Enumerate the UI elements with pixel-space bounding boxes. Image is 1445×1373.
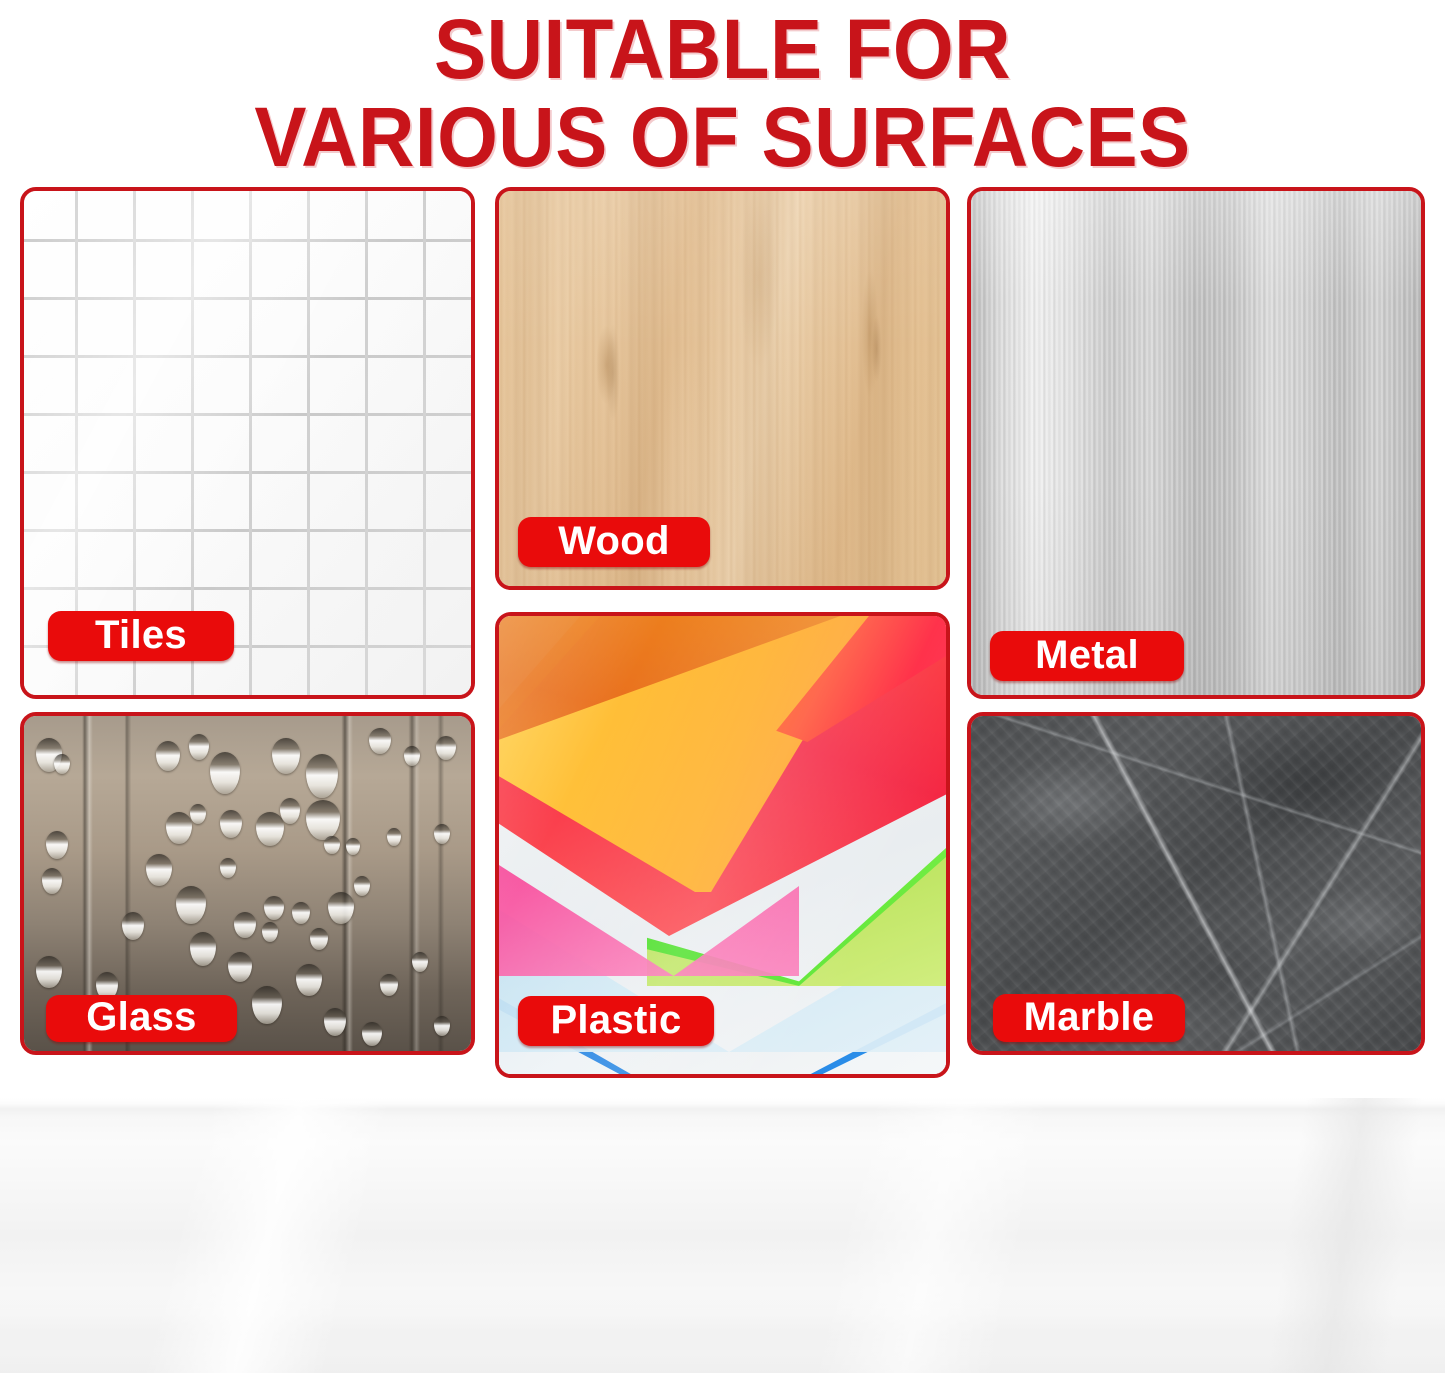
surface-card-tiles: Tiles bbox=[20, 187, 475, 699]
surface-label-metal: Metal bbox=[990, 631, 1184, 681]
surface-label-glass: Glass bbox=[46, 995, 237, 1042]
headline-line-2: VARIOUS OF SURFACES bbox=[51, 94, 1395, 180]
metal-texture bbox=[971, 191, 1421, 695]
surface-card-glass: Glass bbox=[20, 712, 475, 1055]
surface-label-wood: Wood bbox=[518, 517, 710, 567]
product-strip-highlight bbox=[0, 1098, 1445, 1373]
metal-sheen bbox=[971, 191, 1421, 695]
surface-card-marble: Marble bbox=[967, 712, 1425, 1055]
surface-card-plastic: Plastic bbox=[495, 612, 950, 1078]
surface-card-wood: Wood bbox=[495, 187, 950, 590]
surface-label-marble: Marble bbox=[993, 994, 1185, 1042]
surface-card-metal: Metal bbox=[967, 187, 1425, 699]
product-photo-strip bbox=[0, 1098, 1445, 1373]
page-title: SUITABLE FOR VARIOUS OF SURFACES bbox=[0, 0, 1445, 180]
surface-label-plastic: Plastic bbox=[518, 996, 714, 1046]
surface-label-tiles: Tiles bbox=[48, 611, 234, 661]
headline-line-1: SUITABLE FOR bbox=[51, 6, 1395, 92]
